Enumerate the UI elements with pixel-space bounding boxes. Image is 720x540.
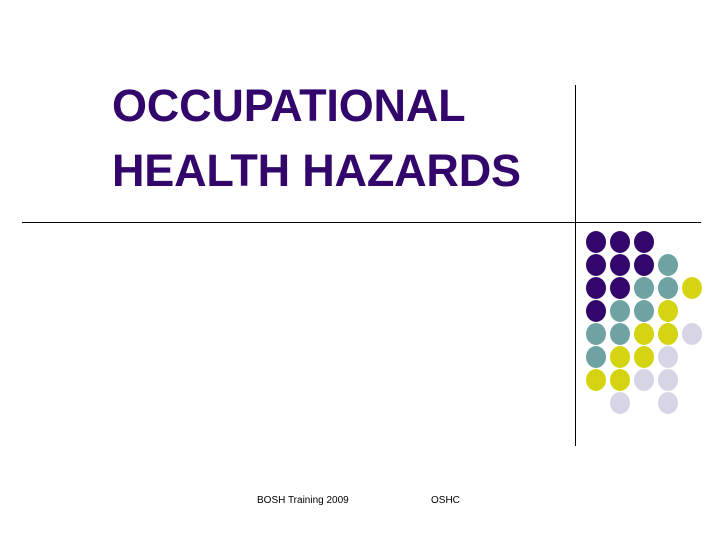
dot-teal: [610, 300, 630, 322]
dot-yellow: [610, 346, 630, 368]
dot-purple: [586, 277, 606, 299]
dot-teal: [634, 300, 654, 322]
dot-yellow: [658, 300, 678, 322]
dot-yellow: [586, 369, 606, 391]
footer: BOSH Training 2009 OSHC: [0, 494, 720, 512]
dot-grid-decoration: [586, 231, 698, 411]
dot-teal: [586, 346, 606, 368]
dot-lavender: [682, 323, 702, 345]
dot-teal: [634, 277, 654, 299]
dot-lavender: [658, 369, 678, 391]
horizontal-divider: [22, 222, 701, 223]
dot-teal: [586, 323, 606, 345]
dot-teal: [658, 254, 678, 276]
footer-organization-label: OSHC: [431, 494, 460, 508]
dot-yellow: [634, 346, 654, 368]
dot-purple: [634, 254, 654, 276]
slide-canvas: OCCUPATIONAL HEALTH HAZARDS BOSH Trainin…: [0, 0, 720, 540]
dot-yellow: [634, 323, 654, 345]
dot-lavender: [658, 392, 678, 414]
dot-yellow: [610, 369, 630, 391]
dot-purple: [586, 231, 606, 253]
footer-training-label: BOSH Training 2009: [257, 494, 349, 508]
dot-yellow: [658, 323, 678, 345]
dot-lavender: [658, 346, 678, 368]
dot-teal: [658, 277, 678, 299]
dot-lavender: [634, 369, 654, 391]
page-title: OCCUPATIONAL HEALTH HAZARDS: [112, 74, 564, 204]
dot-purple: [610, 231, 630, 253]
dot-lavender: [610, 392, 630, 414]
vertical-divider: [575, 85, 576, 446]
dot-purple: [610, 277, 630, 299]
dot-purple: [634, 231, 654, 253]
dot-teal: [610, 323, 630, 345]
dot-purple: [586, 300, 606, 322]
dot-purple: [586, 254, 606, 276]
dot-purple: [610, 254, 630, 276]
dot-yellow: [682, 277, 702, 299]
